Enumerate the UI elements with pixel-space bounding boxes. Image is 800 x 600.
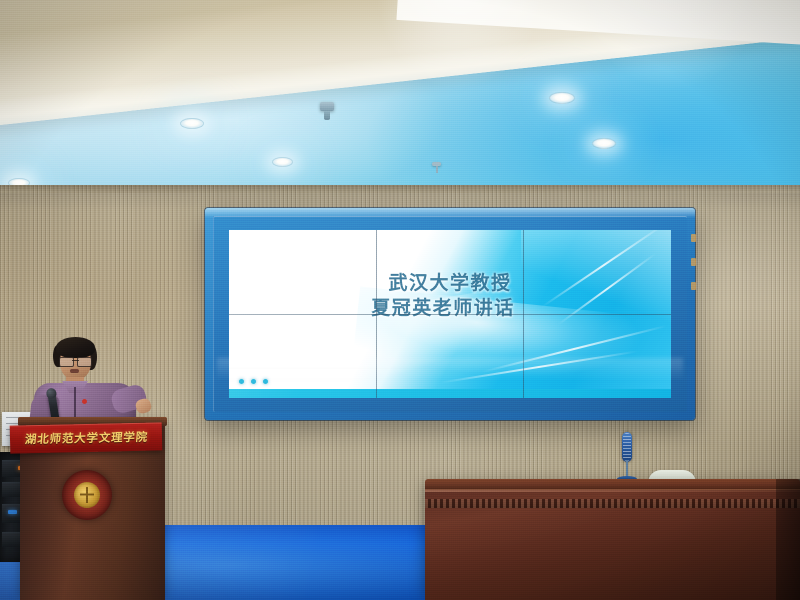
conference-table-top: [425, 479, 800, 490]
presenter-glasses: [59, 357, 92, 365]
university-crest-icon: [62, 470, 112, 520]
ceiling-downlight-1: [180, 118, 204, 129]
conference-table-right-end: [776, 479, 800, 600]
desk-microphone-head: [622, 432, 632, 462]
desk-microphone[interactable]: [621, 432, 633, 482]
slide-title-line-1: 武汉大学教授: [388, 272, 511, 294]
ceiling-sprinkler-1: [432, 162, 441, 166]
lcd-video-wall[interactable]: 武汉大学教授 夏冠英老师讲话: [205, 208, 695, 420]
ceiling-projector-icon: [320, 102, 334, 111]
conference-table-molding: [425, 499, 800, 508]
slide-title-line-2: 夏冠英老师讲话: [229, 296, 671, 321]
presenter-mouth: [70, 369, 79, 373]
ceiling: [0, 0, 800, 215]
rack-led-blue: [8, 510, 17, 514]
ceiling-light-glow-b: [540, 0, 800, 215]
ceiling-downlight-2: [272, 157, 293, 167]
podium-banner-text: 湖北师范大学文理学院: [24, 429, 148, 448]
video-wall-side-glints: [691, 234, 697, 364]
conference-table-edge-highlight: [425, 490, 800, 492]
ceiling-downlight-4: [592, 138, 616, 149]
lecture-hall-photo: 武汉大学教授 夏冠英老师讲话: [0, 0, 800, 600]
podium-banner: 湖北师范大学文理学院: [10, 422, 163, 453]
ceiling-downlight-3: [549, 92, 575, 104]
video-wall-lower-reflection: [217, 358, 683, 380]
video-wall-seam-horizontal-1: [229, 314, 671, 315]
presenter-hair: [56, 337, 95, 358]
ceiling-light-glow-a: [315, 0, 575, 215]
slide-bottom-bar: [229, 389, 671, 398]
conference-table: [425, 487, 800, 600]
presenter-badge: [82, 399, 87, 404]
